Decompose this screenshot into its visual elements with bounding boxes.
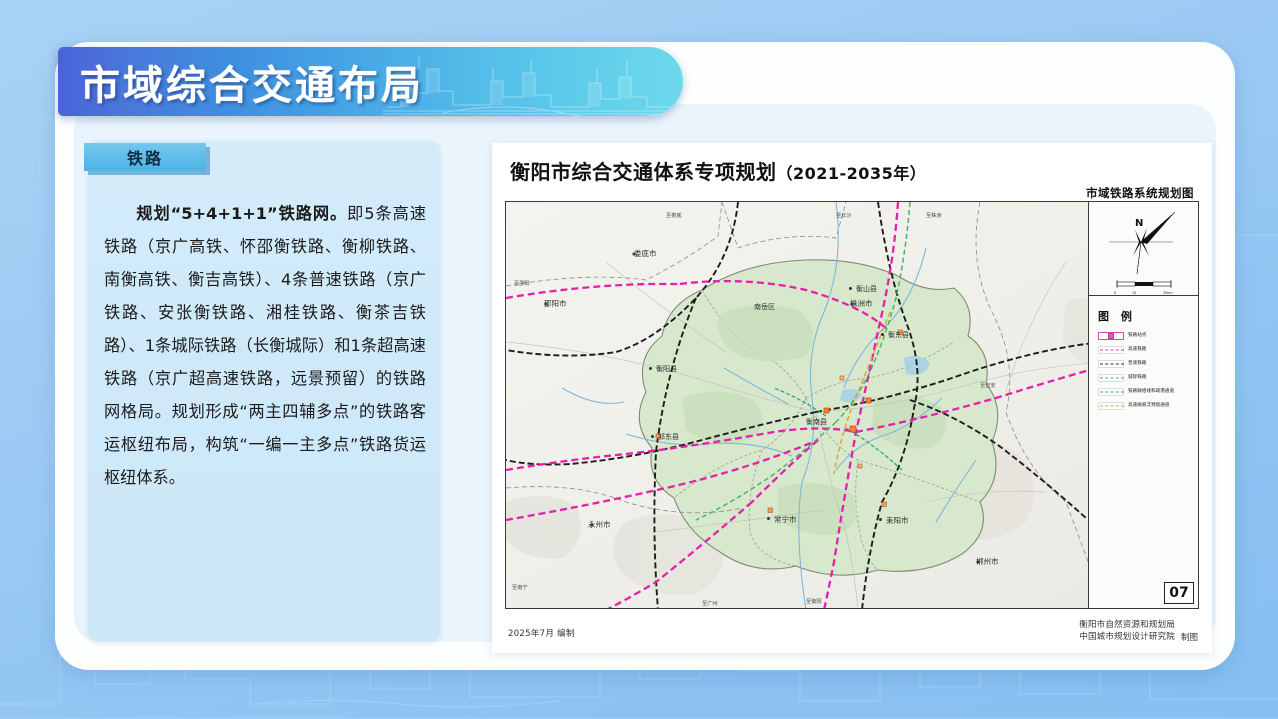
map-drawn-by: 制图 [1181,631,1198,643]
legend-label: 铁路联络线和疏港通道 [1128,388,1174,396]
legend-swatch-dash-icon [1098,388,1124,396]
legend-label: 铁路站点 [1128,332,1146,340]
legend-swatch-dash-icon [1098,374,1124,382]
legend-label: 普速铁路 [1128,360,1146,368]
map-title-years: （2021-2035年） [777,164,927,183]
legend-label: 城际铁路 [1128,374,1146,382]
compass-box: N [1089,202,1199,296]
page-title: 市域综合交通布局 [80,53,424,111]
org-line-1: 衡阳市自然资源和规划局 [1079,619,1175,631]
svg-text:N: N [1135,218,1143,229]
org-line-2: 中国城市规划设计研究院 [1079,631,1175,643]
map-title-main: 衡阳市综合交通体系专项规划 [510,160,777,184]
map-legend: 图 例 铁路站点高速铁路普速铁路城际铁路铁路联络线和疏港通道高速磁悬浮预留通道 [1089,296,1199,609]
section-tag-railway: 铁路 [84,143,206,171]
legend-item: 铁路联络线和疏港通道 [1098,386,1199,397]
railway-description: 规划“5+4+1+1”铁路网。即5条高速铁路（京广高铁、怀邵衡铁路、衡柳铁路、南… [104,197,426,494]
map-page-number: 07 [1164,582,1194,604]
compass-rose-icon: N [1089,202,1199,296]
map-panel: 衡阳市综合交通体系专项规划（2021-2035年） 市域铁路系统规划图 [492,143,1212,653]
legend-swatch-dash-icon [1098,360,1124,368]
map-side-column: N [1088,202,1198,609]
slide-title-banner: 市域综合交通布局 [58,47,683,116]
legend-title: 图 例 [1098,308,1199,324]
svg-text:30km: 30km [1163,291,1173,295]
legend-item: 高速铁路 [1098,344,1199,355]
section-tag-label: 铁路 [127,145,163,169]
legend-item: 普速铁路 [1098,358,1199,369]
svg-text:0: 0 [1114,291,1116,295]
legend-label: 高速铁路 [1128,346,1146,354]
legend-item: 城际铁路 [1098,372,1199,383]
map-footer-date: 2025年7月 编制 [508,627,575,639]
legend-item: 高速磁悬浮预留通道 [1098,400,1199,411]
legend-swatch-station-icon [1098,332,1124,340]
svg-text:15: 15 [1132,291,1136,295]
map-subtitle: 市域铁路系统规划图 [1086,185,1194,201]
railway-description-rest: 即5条高速铁路（京广高铁、怀邵衡铁路、衡柳铁路、南衡高铁、衡吉高铁）、4条普速铁… [104,204,426,487]
slide-page: 市域综合交通布局 铁路 规划“5+4+1+1”铁路网。即5条高速铁路（京广高铁、… [0,0,1278,719]
railway-text-panel: 铁路 规划“5+4+1+1”铁路网。即5条高速铁路（京广高铁、怀邵衡铁路、衡柳铁… [88,141,440,641]
map-org-names: 衡阳市自然资源和规划局 中国城市规划设计研究院 [1079,619,1175,643]
legend-items: 铁路站点高速铁路普速铁路城际铁路铁路联络线和疏港通道高速磁悬浮预留通道 [1089,330,1199,411]
legend-label: 高速磁悬浮预留通道 [1128,402,1169,410]
map-frame[interactable]: 娄底市邵阳市株洲市永州市郴州市常宁市耒阳市衡阳县衡东县衡山县南岳区衡南县祁东县至… [505,201,1199,609]
map-footer-credits: 衡阳市自然资源和规划局 中国城市规划设计研究院 制图 [1079,619,1198,643]
legend-item: 铁路站点 [1098,330,1199,341]
railway-description-lead: 规划“5+4+1+1”铁路网。 [136,204,347,223]
legend-swatch-dash-icon [1098,346,1124,354]
legend-swatch-dash-icon [1098,402,1124,410]
map-title: 衡阳市综合交通体系专项规划（2021-2035年） [510,156,926,185]
banner-skyline-icon [383,47,683,116]
